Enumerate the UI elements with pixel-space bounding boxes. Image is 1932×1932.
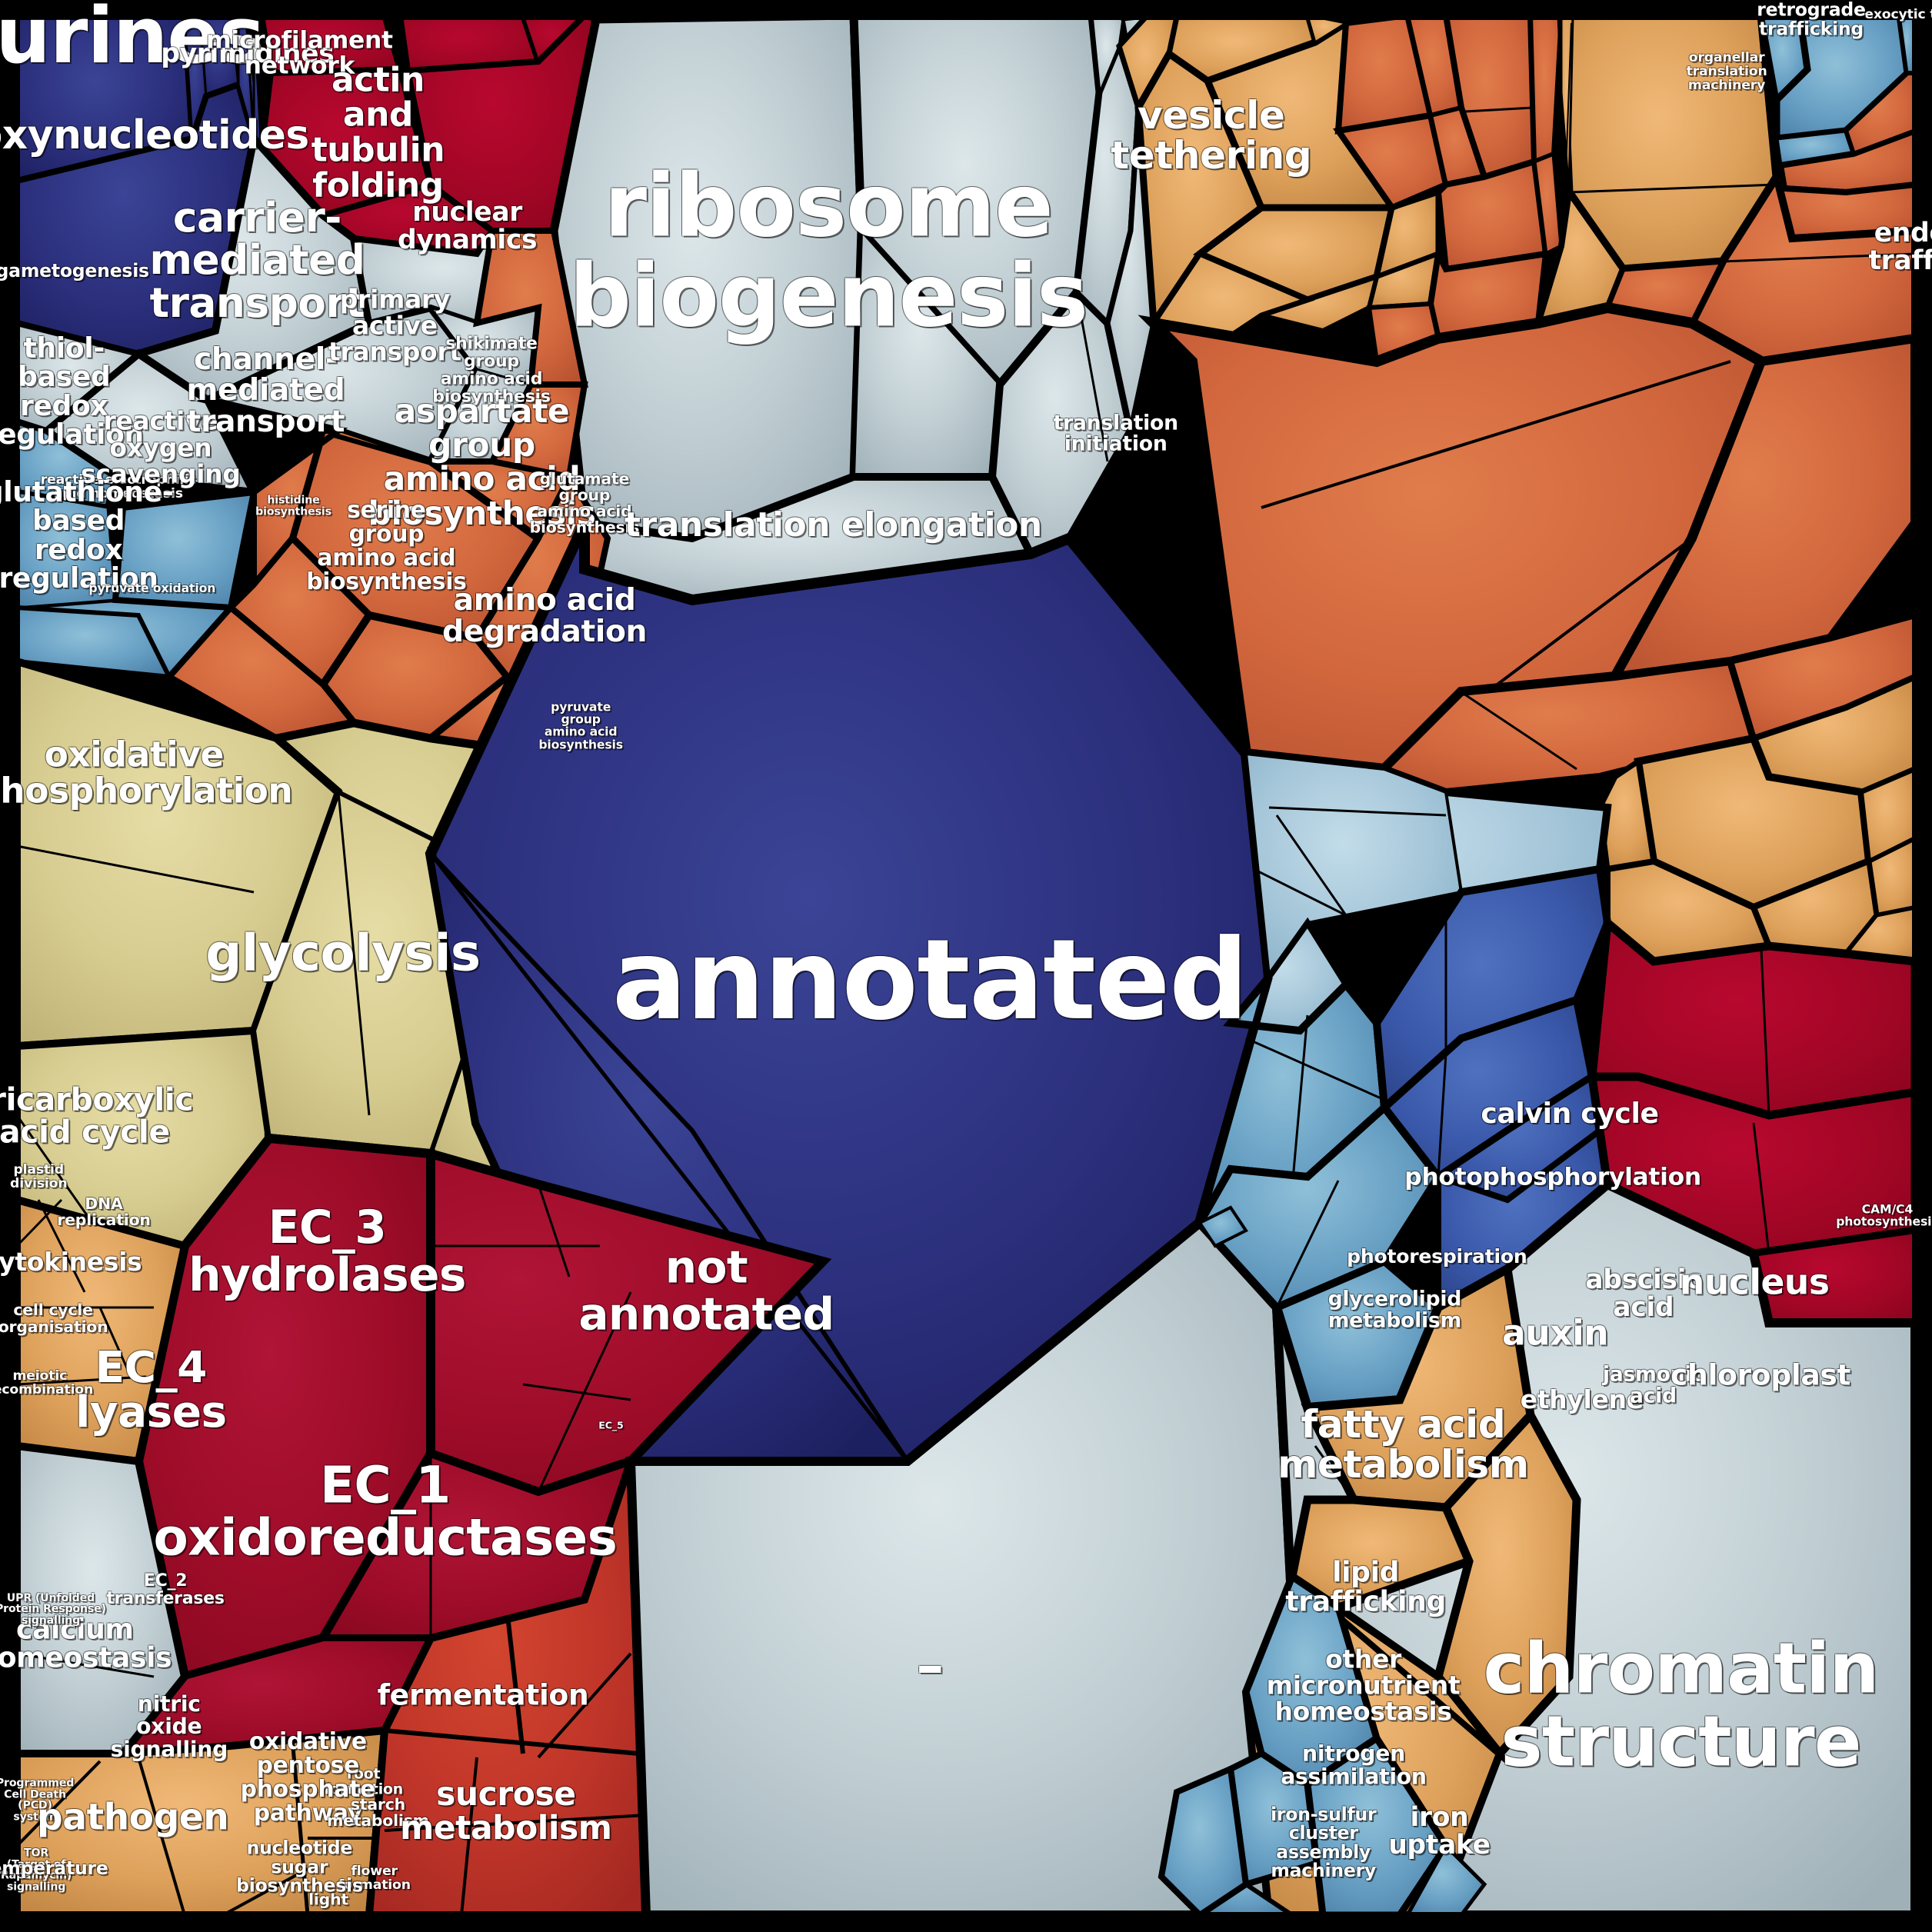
treemap-svg — [0, 0, 1932, 1932]
voronoi-treemap-figure: purinespyrimidinesdeoxynucleotidesgameto… — [0, 0, 1932, 1932]
